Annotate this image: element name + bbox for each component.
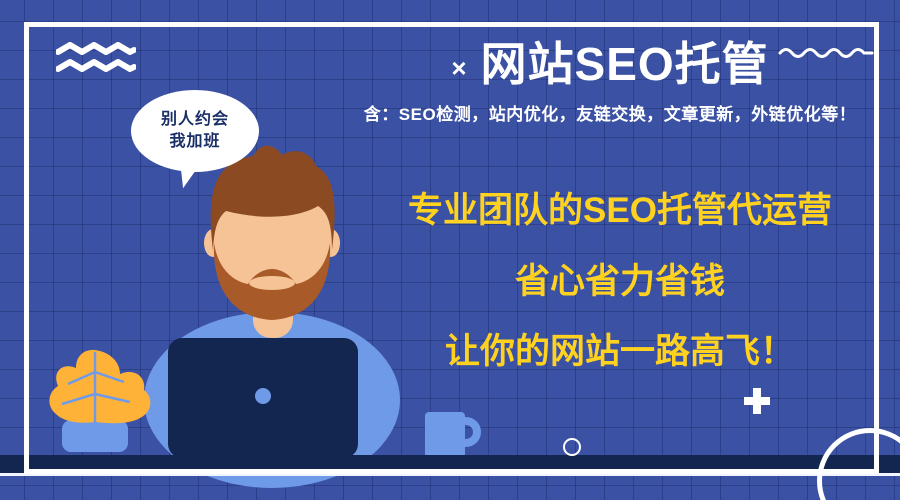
- pitch-line-2: 省心省力省钱: [360, 263, 880, 302]
- subtitle-services-list: 含：SEO检测，站内优化，友链交换，文章更新，外链优化等！: [330, 100, 890, 125]
- title-row: × 网站SEO托管: [330, 40, 890, 88]
- plant-pot: [62, 420, 128, 452]
- speech-bubble-line-1: 别人约会: [161, 109, 229, 131]
- pitch-line-1: 专业团队的SEO托管代运营: [360, 192, 880, 231]
- pitch-line-3: 让你的网站一路高飞！: [360, 333, 880, 372]
- mug-handle: [465, 421, 477, 443]
- close-x-icon: ×: [451, 55, 466, 81]
- small-circle-outline-icon: [563, 438, 581, 456]
- desk-edge-line: [0, 473, 900, 476]
- speech-bubble: 别人约会 我加班: [131, 90, 259, 172]
- headline-block: × 网站SEO托管 含：SEO检测，站内优化，友链交换，文章更新，外链优化等！: [330, 40, 890, 125]
- pitch-block: 专业团队的SEO托管代运营 省心省力省钱 让你的网站一路高飞！: [360, 192, 880, 372]
- person-ear-right: [322, 229, 340, 257]
- speech-bubble-line-2: 我加班: [169, 131, 220, 153]
- page-title: 网站SEO托管: [481, 40, 769, 88]
- desk-surface: [0, 455, 900, 474]
- plus-icon: [744, 388, 770, 414]
- plant-leaf: [49, 350, 150, 423]
- seo-hosting-banner: 别人约会 我加班 × 网站SEO托管 含：SEO检测，站内优化，友链交换，文章更…: [0, 0, 900, 500]
- mug-body: [425, 412, 465, 458]
- laptop-logo-dot: [255, 388, 271, 404]
- person-mouth: [249, 276, 295, 290]
